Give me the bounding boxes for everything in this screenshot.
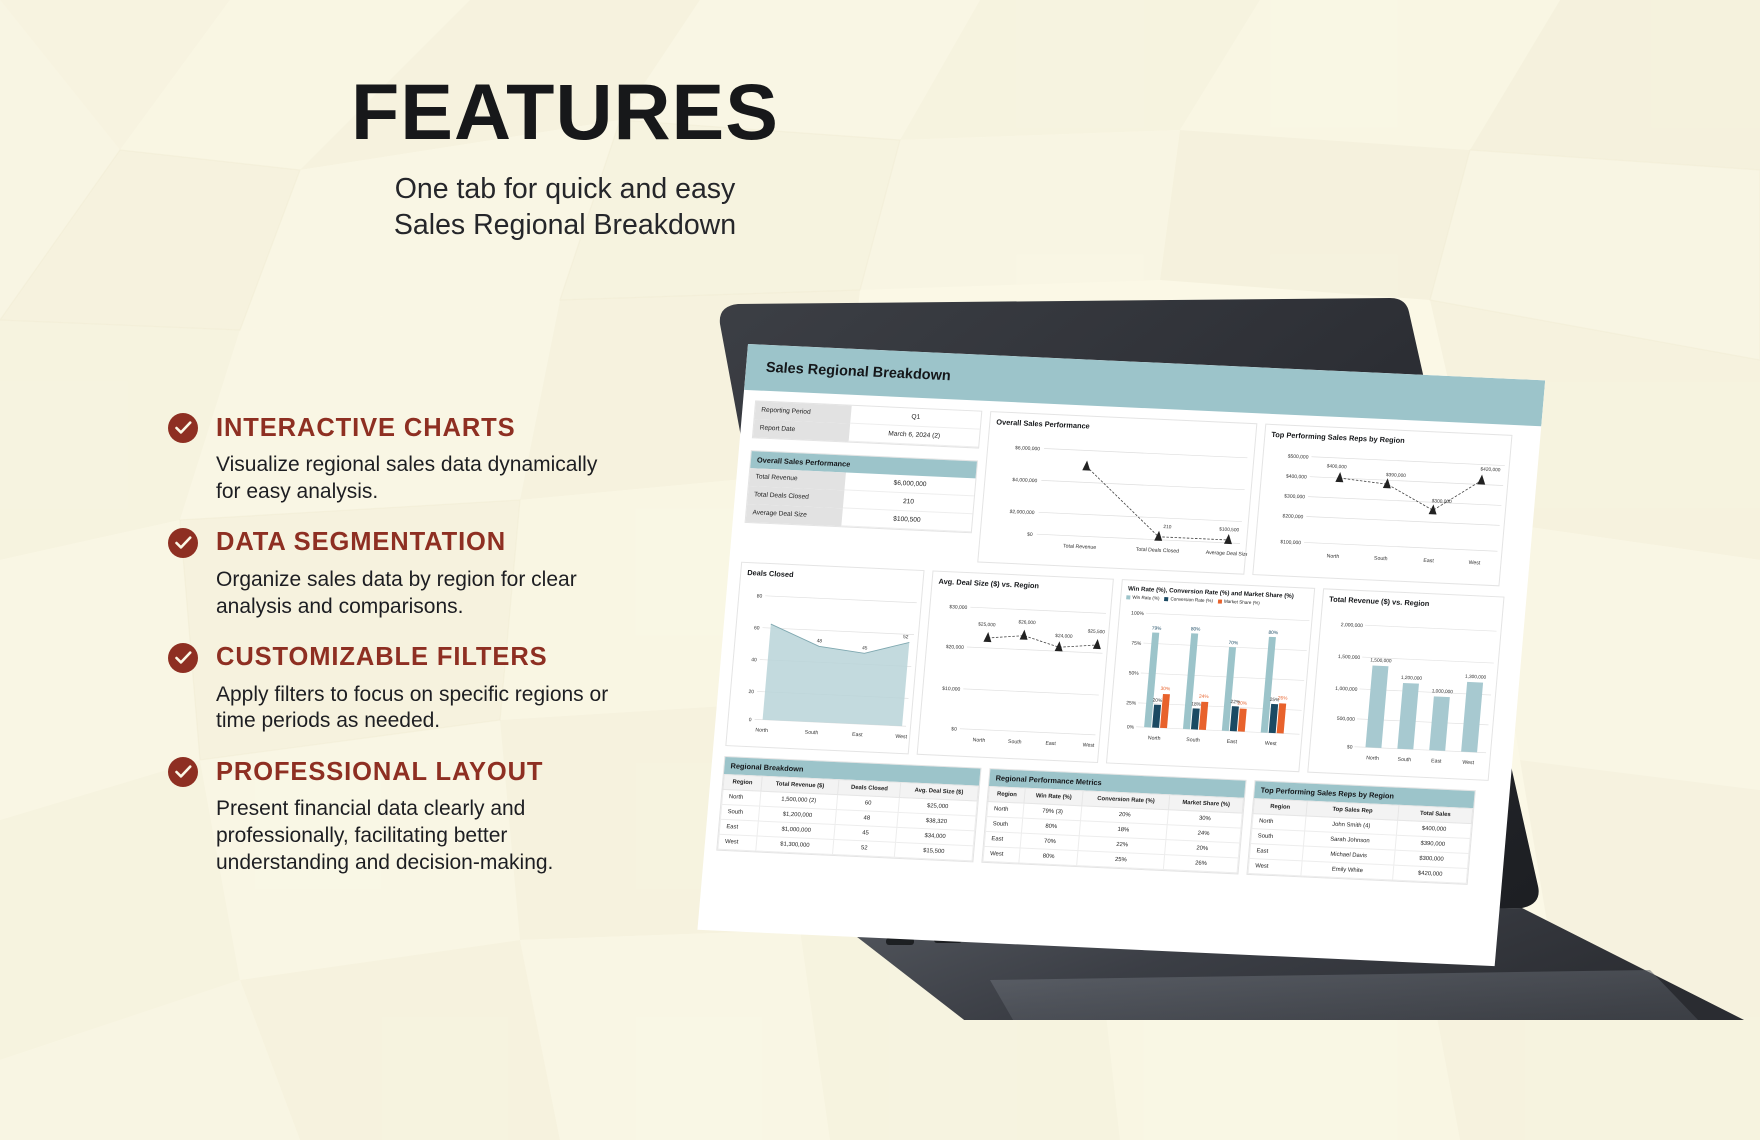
- summary-panel: Reporting Period Q1 Report Date March 6,…: [745, 400, 983, 533]
- cell-region: East: [984, 831, 1021, 848]
- data-label: 210: [1163, 524, 1172, 530]
- overall-performance-card: Overall Sales Performance Total Revenue …: [745, 450, 978, 533]
- data-label: 45: [862, 645, 868, 651]
- feature-description: Visualize regional sales data dynamicall…: [216, 452, 686, 506]
- ytick-label: $300,000: [1284, 494, 1305, 501]
- ytick-label: $100,000: [1280, 539, 1301, 546]
- data-label: $25,000: [978, 622, 996, 629]
- cell-region: West: [718, 834, 757, 851]
- cell-region: South: [986, 816, 1023, 833]
- ytick-label: 80: [756, 593, 762, 599]
- xtick-label: West: [1265, 741, 1278, 748]
- ytick-label: $400,000: [1286, 474, 1307, 481]
- ytick-label: 2,000,000: [1341, 622, 1364, 629]
- laptop-mockup: Sales Regional Breakdown Reporting Perio…: [690, 280, 1760, 1020]
- svg-text:25%: 25%: [1269, 697, 1280, 703]
- xtick-label: South: [1374, 556, 1388, 563]
- xtick-label: North: [1326, 553, 1339, 560]
- ytick-label: $30,000: [949, 604, 968, 611]
- svg-text:80%: 80%: [1191, 626, 1202, 632]
- cell-region: North: [722, 789, 761, 806]
- cell-total-sales: $420,000: [1393, 865, 1468, 883]
- chart-overall-sales-performance[interactable]: Overall Sales Performance $6,000,000: [977, 411, 1257, 575]
- data-label: 1,500,000: [1370, 657, 1392, 664]
- xtick-label: Average Deal Size: [1205, 550, 1248, 558]
- ytick-label: 1,000,000: [1335, 686, 1358, 693]
- data-label: $390,000: [1386, 472, 1407, 479]
- xtick-label: East: [1431, 758, 1442, 764]
- cell-market-share: 26%: [1164, 855, 1239, 873]
- chart-canvas: 2,000,000 1,500,000 1,000,000 500,000 $0: [1309, 605, 1504, 775]
- data-label: 52: [903, 634, 909, 640]
- ytick-label: $0: [1347, 744, 1353, 750]
- xtick-label: North: [1366, 755, 1379, 762]
- feature-list: INTERACTIVE CHARTS Visualize regional sa…: [168, 413, 708, 877]
- table-regional-breakdown[interactable]: Regional Breakdown Region Total Revenue …: [716, 756, 981, 862]
- cell-region: West: [1248, 858, 1302, 875]
- xtick-label: East: [1423, 558, 1434, 564]
- data-label: 1,200,000: [1401, 675, 1423, 682]
- xtick-label: South: [804, 730, 818, 737]
- data-label: 1,300,000: [1465, 674, 1487, 681]
- data-label: $300,000: [1431, 498, 1452, 505]
- data-label: $100,500: [1219, 527, 1240, 534]
- xtick-label: North: [755, 727, 768, 734]
- page-subtitle-line2: Sales Regional Breakdown: [0, 207, 1130, 243]
- table-top-performing-sales-reps[interactable]: Top Performing Sales Reps by Region Regi…: [1246, 780, 1475, 885]
- ytick-label: $2,000,000: [1009, 509, 1035, 516]
- xtick-label: West: [1468, 560, 1481, 567]
- cell-total-revenue: $1,300,000: [755, 836, 834, 854]
- check-circle-icon: [168, 643, 198, 673]
- ytick-label: 20: [748, 689, 754, 695]
- chart-canvas: $6,000,000 $4,000,000 $2,000,000 $0: [979, 428, 1257, 568]
- chart-canvas: 100% 75% 50% 25% 0%: [1108, 600, 1314, 756]
- svg-text:20%: 20%: [1152, 698, 1163, 704]
- xtick-label: North: [972, 737, 985, 744]
- xtick-label: South: [1186, 737, 1200, 744]
- feature-item-professional-layout: PROFESSIONAL LAYOUT Present financial da…: [168, 757, 708, 877]
- feature-item-customizable-filters: CUSTOMIZABLE FILTERS Apply filters to fo…: [168, 643, 708, 736]
- check-circle-icon: [168, 528, 198, 558]
- dashboard-body: Reporting Period Q1 Report Date March 6,…: [703, 390, 1541, 897]
- ytick-label: 0%: [1127, 724, 1135, 730]
- svg-text:70%: 70%: [1228, 640, 1239, 646]
- ytick-label: 100%: [1131, 611, 1145, 618]
- data-label: $26,000: [1018, 619, 1036, 626]
- chart-canvas: $500,000 $400,000 $300,000 $200,000 $100…: [1254, 441, 1512, 580]
- chart-deals-closed[interactable]: Deals Closed 80: [725, 562, 924, 755]
- ytick-label: $20,000: [946, 644, 965, 651]
- check-circle-icon: [168, 757, 198, 787]
- ytick-label: 50%: [1128, 670, 1139, 676]
- chart-win-conversion-share[interactable]: Win Rate (%), Conversion Rate (%) and Ma…: [1106, 579, 1315, 772]
- feature-title: CUSTOMIZABLE FILTERS: [216, 643, 548, 672]
- poster-canvas: FEATURES One tab for quick and easy Sale…: [0, 0, 1760, 1140]
- feature-description: Apply filters to focus on specific regio…: [216, 682, 686, 736]
- ytick-label: $0: [951, 726, 957, 732]
- feature-title: PROFESSIONAL LAYOUT: [216, 758, 543, 787]
- xtick-label: Total Revenue: [1063, 543, 1097, 551]
- chart-top-reps-by-region[interactable]: Top Performing Sales Reps by Region: [1252, 424, 1512, 587]
- feature-description: Present financial data clearly and profe…: [216, 796, 686, 877]
- feature-title: INTERACTIVE CHARTS: [216, 414, 516, 443]
- chart-canvas: 80 60 40 20 0 48 45: [727, 579, 924, 749]
- ytick-label: $0: [1027, 532, 1033, 538]
- svg-text:79%: 79%: [1152, 625, 1163, 631]
- xtick-label: Total Deals Closed: [1136, 547, 1180, 555]
- feature-item-interactive-charts: INTERACTIVE CHARTS Visualize regional sa…: [168, 413, 708, 506]
- ytick-label: 0: [749, 717, 753, 723]
- data-label: $24,000: [1055, 633, 1073, 640]
- svg-text:22%: 22%: [1230, 699, 1241, 705]
- data-label: 1,000,000: [1431, 688, 1453, 695]
- svg-text:80%: 80%: [1268, 630, 1279, 636]
- ytick-label: 60: [754, 625, 760, 631]
- data-label: $25,500: [1087, 629, 1105, 636]
- xtick-label: West: [1462, 760, 1475, 767]
- ytick-label: $200,000: [1282, 513, 1303, 520]
- ytick-label: $4,000,000: [1012, 477, 1038, 484]
- feature-description: Organize sales data by region for clear …: [216, 567, 686, 621]
- xtick-label: East: [1226, 739, 1237, 745]
- metric-label: Average Deal Size: [746, 504, 843, 526]
- cell-region: South: [720, 804, 759, 821]
- feature-title: DATA SEGMENTATION: [216, 528, 506, 557]
- check-circle-icon: [168, 413, 198, 443]
- page-subtitle: One tab for quick and easy Sales Regiona…: [0, 171, 1130, 244]
- cell-region: West: [983, 846, 1020, 863]
- cell-region: North: [987, 802, 1024, 819]
- dashboard-title: Sales Regional Breakdown: [765, 360, 951, 384]
- ytick-label: $500,000: [1287, 454, 1308, 461]
- cell-region: East: [719, 819, 758, 836]
- data-label: $400,000: [1326, 463, 1347, 470]
- xtick-label: North: [1148, 735, 1161, 742]
- xtick-label: West: [1082, 742, 1095, 749]
- cell-avg-deal-size: $15,500: [894, 842, 973, 860]
- ytick-label: 1,500,000: [1338, 654, 1361, 661]
- feature-item-data-segmentation: DATA SEGMENTATION Organize sales data by…: [168, 528, 708, 621]
- cell-deals-closed: 52: [833, 839, 896, 857]
- xtick-label: East: [852, 732, 863, 738]
- xtick-label: West: [895, 734, 908, 741]
- column-header: Region: [988, 787, 1025, 804]
- xtick-label: South: [1397, 757, 1411, 764]
- ytick-label: 500,000: [1337, 716, 1356, 723]
- ytick-label: $6,000,000: [1015, 445, 1041, 452]
- ytick-label: $10,000: [942, 686, 961, 693]
- page-title: FEATURES: [0, 72, 1130, 153]
- ytick-label: 25%: [1126, 700, 1137, 706]
- page-subtitle-line1: One tab for quick and easy: [0, 171, 1130, 207]
- laptop-screen: Sales Regional Breakdown Reporting Perio…: [697, 344, 1545, 966]
- column-header: Region: [723, 774, 762, 791]
- svg-text:18%: 18%: [1191, 701, 1202, 707]
- xtick-label: East: [1045, 741, 1056, 747]
- ytick-label: 75%: [1131, 641, 1142, 647]
- chart-avg-deal-size[interactable]: Avg. Deal Size ($) vs. Region $30,000: [917, 570, 1114, 763]
- table-regional-performance-metrics[interactable]: Regional Performance Metrics Region Win …: [981, 768, 1246, 874]
- cell-conversion-rate: 25%: [1077, 851, 1165, 870]
- svg-text:30%: 30%: [1160, 686, 1171, 692]
- data-label: $420,000: [1480, 466, 1501, 473]
- dashboard: Sales Regional Breakdown Reporting Perio…: [697, 344, 1545, 966]
- cell-win-rate: 80%: [1019, 848, 1078, 866]
- headline-block: FEATURES One tab for quick and easy Sale…: [0, 72, 1130, 244]
- chart-canvas: $30,000 $20,000 $10,000 $0: [918, 587, 1113, 757]
- data-label: 48: [816, 638, 822, 644]
- ytick-label: 40: [751, 657, 757, 663]
- svg-text:24%: 24%: [1199, 694, 1210, 700]
- chart-total-revenue-vs-region[interactable]: Total Revenue ($) vs. Region: [1307, 588, 1504, 781]
- xtick-label: South: [1008, 739, 1022, 746]
- cell-top-sales-rep: Emily White: [1301, 861, 1394, 880]
